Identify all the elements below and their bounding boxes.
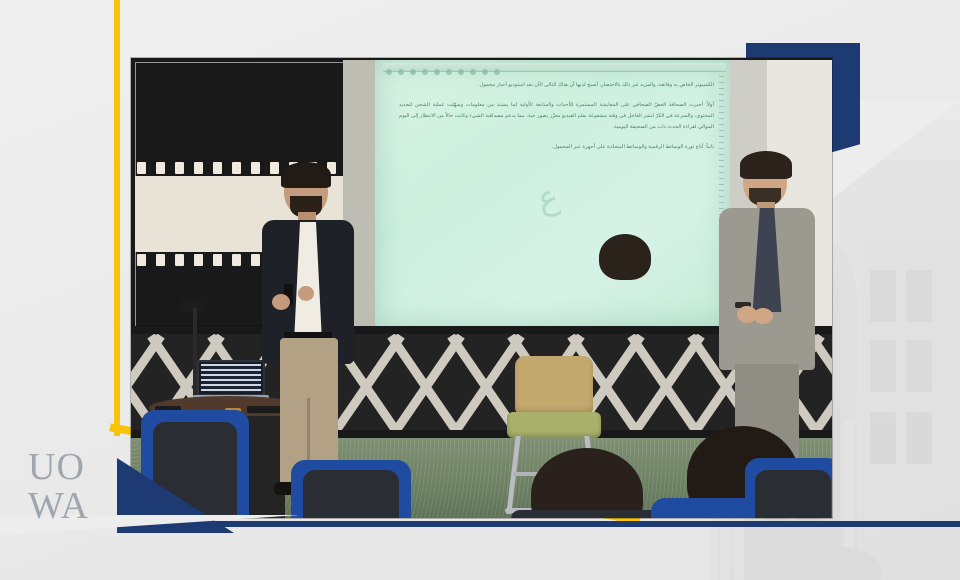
- logo-line-two: WA: [28, 486, 120, 526]
- projection-screen: ع الكمبيوتر الخاص به وفاتقه، والمزيد غير…: [375, 60, 730, 328]
- yellow-accent-vertical: [114, 0, 120, 436]
- document-toolbar: [383, 63, 726, 72]
- projected-document-text: الكمبيوتر الخاص به وفاتقه، والمزيد غير ذ…: [389, 74, 724, 328]
- event-photo: ع الكمبيوتر الخاص به وفاتقه، والمزيد غير…: [131, 58, 832, 518]
- document-paragraph: ثانياً: أتاح ثورة الوسائط الرقمية والوسا…: [399, 142, 714, 153]
- logo-line-one: UO: [28, 448, 120, 486]
- document-paragraph: أولاً: أجبرت الصحافة الغضّ الصحافي على ا…: [399, 100, 714, 133]
- poster-canvas: ع الكمبيوتر الخاص به وفاتقه، والمزيد غير…: [0, 0, 960, 580]
- document-paragraph: الكمبيوتر الخاص به وفاتقه، والمزيد غير ذ…: [399, 80, 714, 91]
- uowa-logo: UO WA: [28, 448, 120, 534]
